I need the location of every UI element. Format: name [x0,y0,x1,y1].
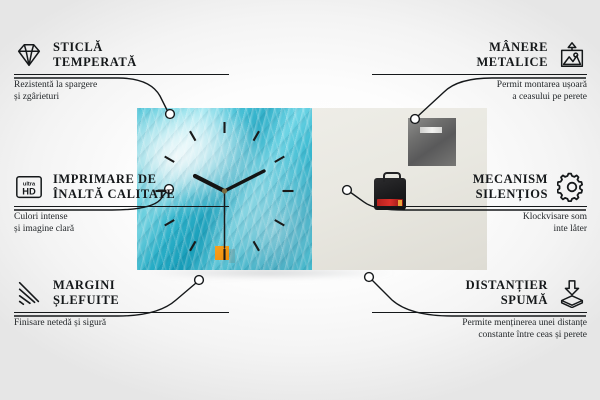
callout-rule [372,312,587,313]
polished-edges-icon [14,278,44,308]
gear-icon [557,172,587,202]
callout-sticla-temperata: STICLĂ TEMPERATĂ Rezistentă la spargere … [14,40,229,104]
ultra-hd-icon: ultra HD [14,172,44,202]
callout-rule [372,74,587,75]
callout-header: MARGINI ȘLEFUITE [14,278,229,309]
callout-header: DISTANȚIER SPUMĂ [372,278,587,309]
callout-mecanism-silentios: MECANISM SILENȚIOS Klockvisare som inte … [372,172,587,236]
callout-title: MARGINI ȘLEFUITE [53,278,119,309]
callout-rule [14,312,229,313]
diamond-icon [14,40,44,70]
infographic-canvas: STICLĂ TEMPERATĂ Rezistentă la spargere … [0,0,600,400]
clock-face [137,108,312,270]
picture-hanger-icon [557,40,587,70]
callout-description: Rezistentă la spargere și zgârieturi [14,79,229,104]
callout-title: MECANISM SILENȚIOS [473,172,548,203]
callout-title: MÂNERE METALICE [476,40,548,71]
metal-hanger-plate [408,118,456,166]
clock-front-panel [137,108,315,270]
callout-distantier-spuma: DISTANȚIER SPUMĂ Permite menținerea unei… [372,278,587,342]
callout-description: Klockvisare som inte låter [372,211,587,236]
callout-manere-metalice: MÂNERE METALICE Permit montarea ușoară a… [372,40,587,104]
callout-description: Permite menținerea unei distanțe constan… [372,317,587,342]
callout-description: Finisare netedă și sigură [14,317,229,330]
svg-text:HD: HD [22,187,36,197]
callout-rule [14,74,229,75]
callout-margini-slefuite: MARGINI ȘLEFUITE Finisare netedă și sigu… [14,278,229,329]
callout-title: DISTANȚIER SPUMĂ [466,278,548,309]
callout-rule [372,206,587,207]
callout-header: MÂNERE METALICE [372,40,587,71]
callout-header: MECANISM SILENȚIOS [372,172,587,203]
callout-description: Permit montarea ușoară a ceasului pe per… [372,79,587,104]
callout-title: STICLĂ TEMPERATĂ [53,40,137,71]
callout-header: STICLĂ TEMPERATĂ [14,40,229,71]
foam-spacer-icon [557,278,587,308]
